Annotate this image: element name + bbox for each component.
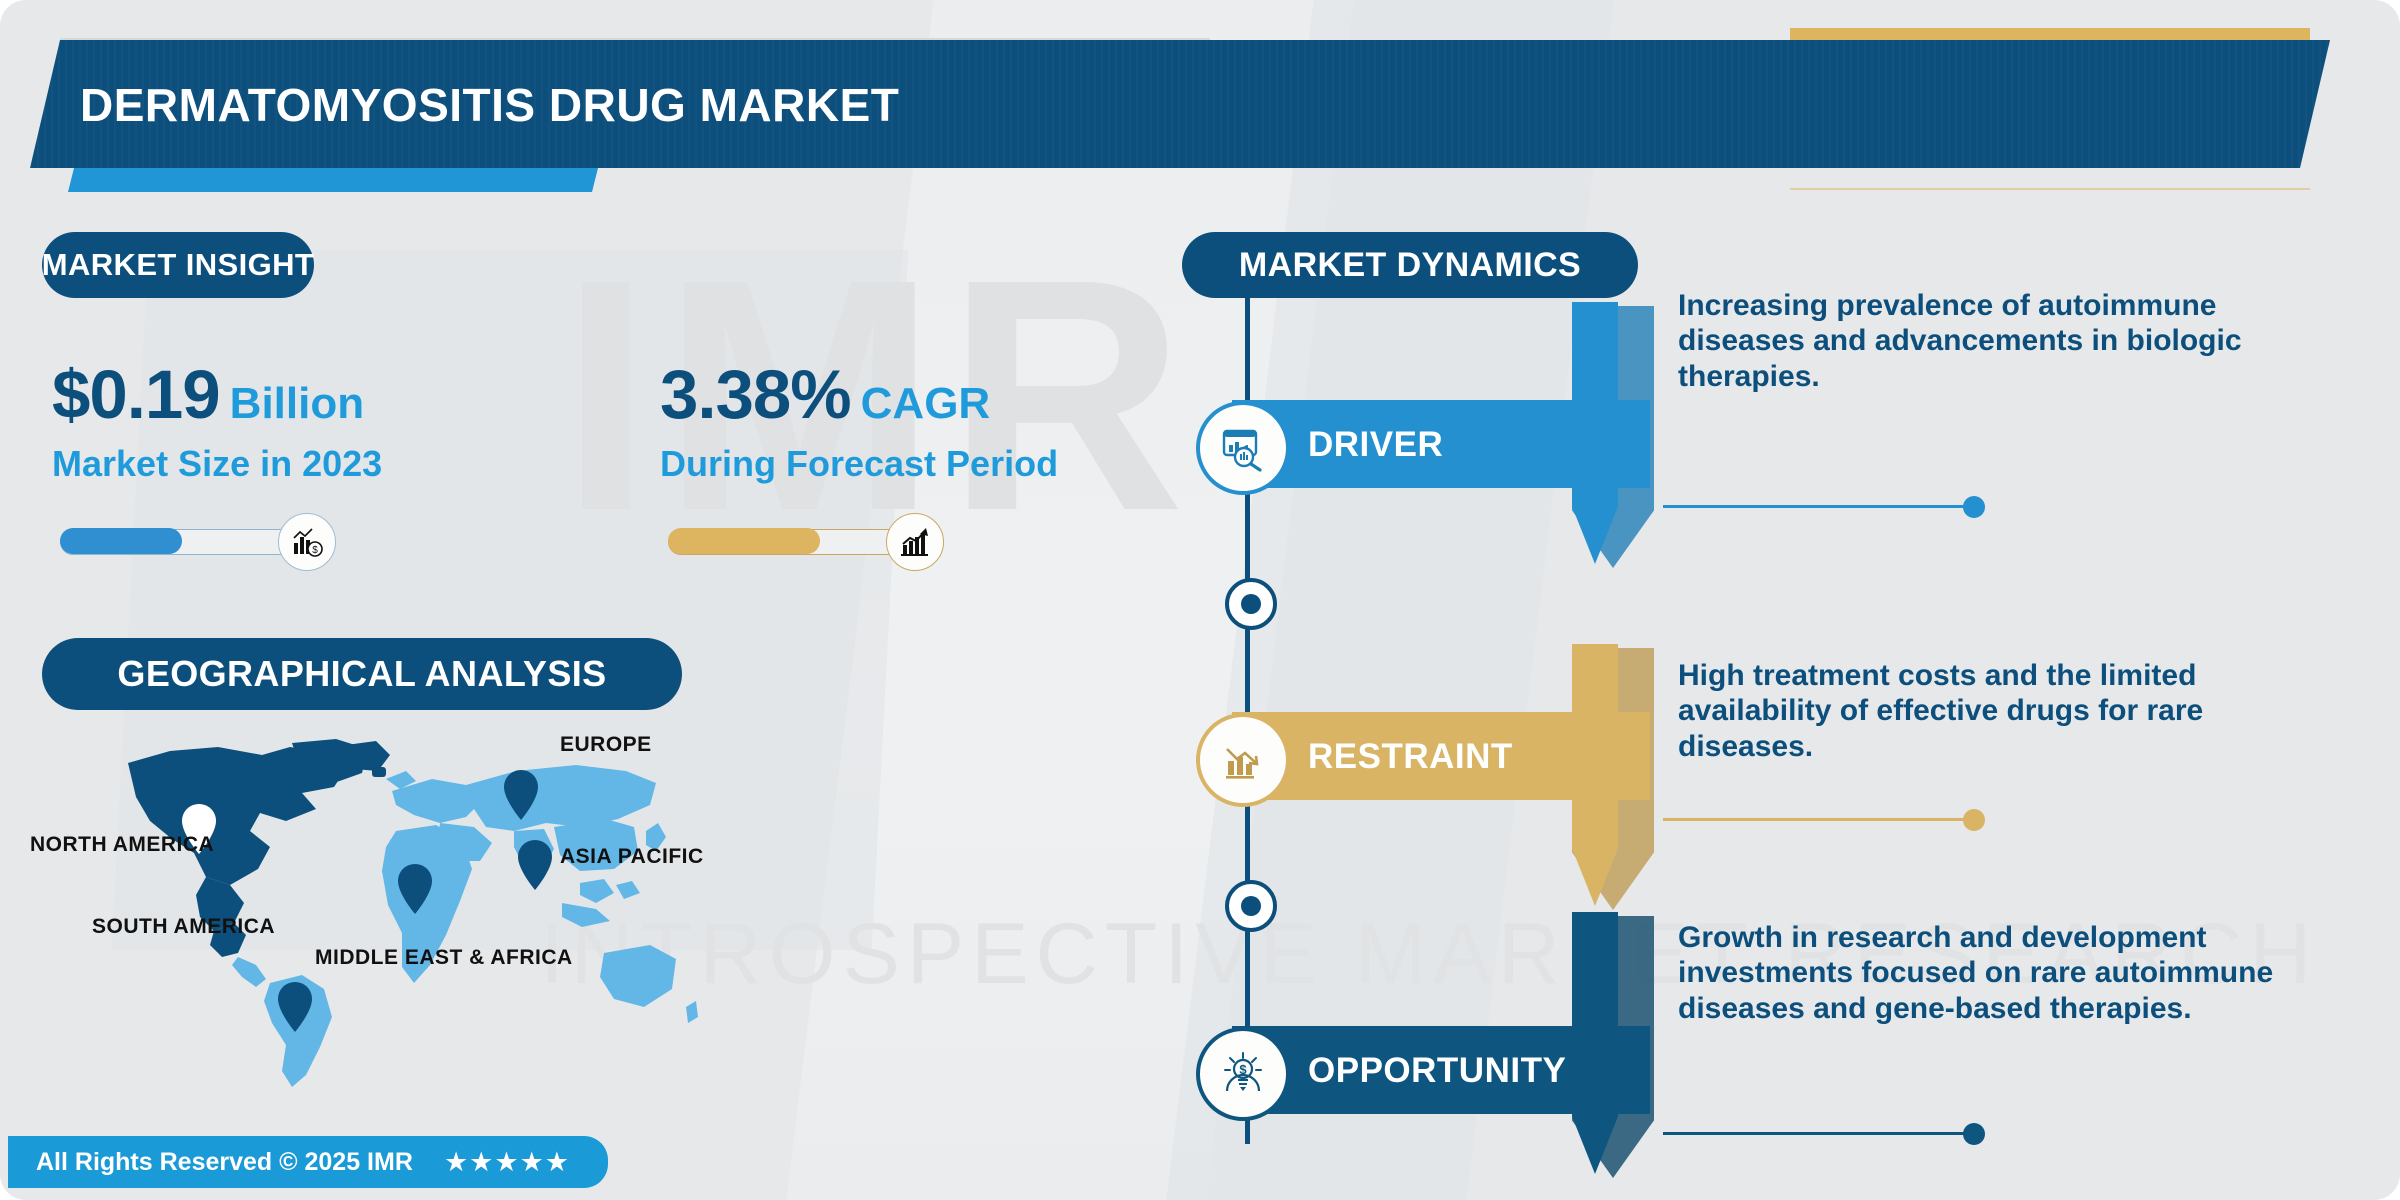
- header-hairline-top: [60, 38, 1210, 40]
- map-label-south-america: SOUTH AMERICA: [92, 915, 275, 939]
- badge-market-insight: MARKET INSIGHT: [42, 232, 314, 298]
- map-label-asia-pacific: ASIA PACIFIC: [560, 845, 704, 869]
- driver-label: DRIVER: [1308, 425, 1443, 465]
- chart-magnifier-icon: [1196, 401, 1290, 495]
- stat-market-size: $0.19Billion Market Size in 2023 $: [52, 360, 522, 569]
- cagr-progress-fill: [668, 528, 820, 554]
- restraint-label: RESTRAINT: [1308, 737, 1513, 777]
- opportunity-text: Growth in research and development inves…: [1678, 920, 2318, 1026]
- map-label-middle-east-africa: MIDDLE EAST & AFRICA: [315, 946, 573, 970]
- declining-chart-icon: [1196, 713, 1290, 807]
- map-label-north-america: NORTH AMERICA: [30, 833, 214, 857]
- opportunity-label: OPPORTUNITY: [1308, 1051, 1566, 1091]
- market-size-headline: $0.19Billion: [52, 360, 522, 429]
- opportunity-rule: [1663, 1132, 1978, 1135]
- header-hairline-gold: [1790, 188, 2310, 190]
- lightbulb-dollar-icon: $: [1196, 1027, 1290, 1121]
- driver-rule-dot: [1963, 496, 1985, 518]
- market-size-unit: Billion: [230, 379, 364, 428]
- restraint-rule-dot: [1963, 809, 1985, 831]
- cagr-value: 3.38%: [660, 356, 851, 433]
- cagr-progress: [660, 513, 1130, 569]
- market-size-value: $0.19: [52, 356, 220, 433]
- cagr-unit: CAGR: [861, 379, 991, 428]
- map-label-europe: EUROPE: [560, 733, 652, 757]
- timeline-node-2: [1225, 880, 1277, 932]
- driver-rule: [1663, 505, 1978, 508]
- driver-text: Increasing prevalence of autoimmune dise…: [1678, 288, 2318, 394]
- opportunity-rule-dot: [1963, 1123, 1985, 1145]
- map-pin-asia-pacific: [518, 840, 552, 890]
- market-size-caption: Market Size in 2023: [52, 443, 522, 485]
- restraint-rule: [1663, 818, 1978, 821]
- cagr-caption: During Forecast Period: [660, 443, 1130, 485]
- copyright-text: All Rights Reserved © 2025 IMR: [36, 1148, 413, 1177]
- restraint-text: High treatment costs and the limited ava…: [1678, 658, 2318, 764]
- infographic-canvas: IMR INTROSPECTIVE MARKET RESEARCH DERMAT…: [0, 0, 2400, 1200]
- cagr-headline: 3.38%CAGR: [660, 360, 1130, 429]
- page-title: DERMATOMYOSITIS DRUG MARKET: [80, 78, 899, 132]
- rating-stars: ★★★★★: [444, 1147, 570, 1178]
- footer-bar: All Rights Reserved © 2025 IMR ★★★★★: [8, 1136, 608, 1188]
- stat-cagr: 3.38%CAGR During Forecast Period: [660, 360, 1130, 569]
- market-size-progress-fill: [60, 528, 182, 554]
- header-underbar: [68, 168, 598, 192]
- growth-chart-icon: [886, 513, 944, 571]
- badge-market-dynamics: MARKET DYNAMICS: [1182, 232, 1638, 298]
- bar-chart-dollar-icon: $: [278, 513, 336, 571]
- market-size-progress: $: [52, 513, 522, 569]
- svg-text:$: $: [312, 545, 318, 556]
- badge-geographical-analysis: GEOGRAPHICAL ANALYSIS: [42, 638, 682, 710]
- timeline-node-1: [1225, 578, 1277, 630]
